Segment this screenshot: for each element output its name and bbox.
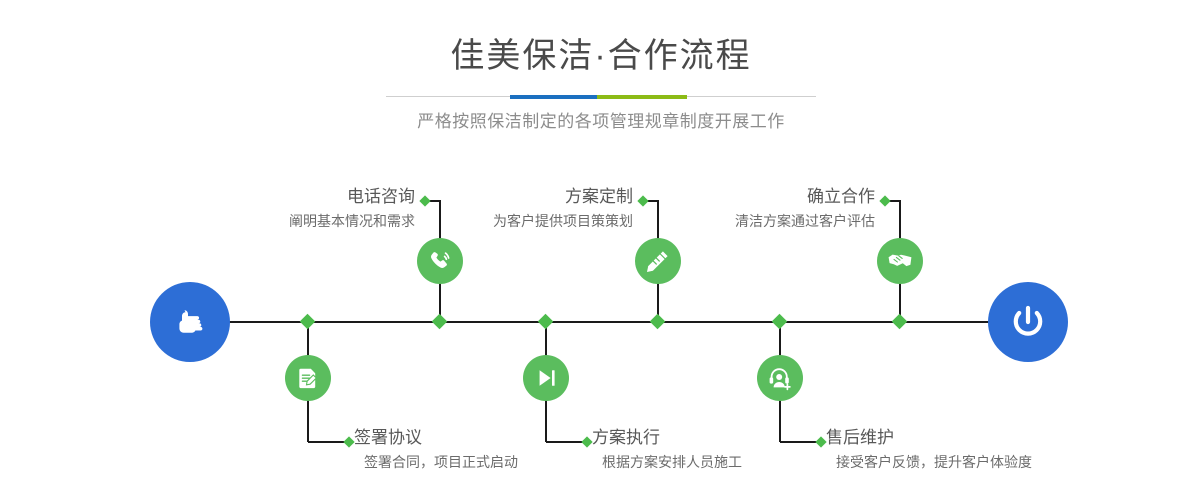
flowchart-page: 佳美保洁·合作流程 严格按照保洁制定的各项管理规章制度开展工作 <box>0 0 1202 502</box>
timeline-end-node[interactable] <box>988 282 1068 362</box>
axis-diamond-3 <box>650 314 666 330</box>
step-label-5: 确立合作 清洁方案通过客户评估 <box>620 186 875 232</box>
play-skip-icon <box>533 365 559 391</box>
step-icon-1[interactable] <box>417 238 463 284</box>
step-label-6: 售后维护 接受客户反馈，提升客户体验度 <box>826 427 1126 473</box>
step-desc-5: 清洁方案通过客户评估 <box>620 210 875 232</box>
label-diamond-5 <box>879 195 890 206</box>
label-diamond-2 <box>343 436 354 447</box>
axis-diamond-4 <box>538 314 554 330</box>
axis-diamond-1 <box>432 314 448 330</box>
step-title-5: 确立合作 <box>620 186 875 208</box>
step-desc-6: 接受客户反馈，提升客户体验度 <box>826 451 1126 473</box>
timeline-start-node[interactable] <box>150 282 230 362</box>
step-icon-2[interactable] <box>285 355 331 401</box>
step-icon-6[interactable] <box>757 355 803 401</box>
axis-diamond-5 <box>892 314 908 330</box>
step-icon-5[interactable] <box>877 238 923 284</box>
step-title-6: 售后维护 <box>826 427 1126 449</box>
axis-diamond-2 <box>300 314 316 330</box>
step-desc-3: 为客户提供项目策策划 <box>368 210 633 232</box>
handshake-icon <box>886 247 914 275</box>
phone-ring-icon <box>426 247 454 275</box>
headset-support-icon <box>766 364 794 392</box>
power-icon <box>1005 299 1051 345</box>
pointing-hand-icon <box>168 300 212 344</box>
process-timeline: 电话咨询 阐明基本情况和需求 签署协议 签署合同，项目正式启动 <box>0 0 1202 502</box>
step-icon-4[interactable] <box>523 355 569 401</box>
step-title-3: 方案定制 <box>368 186 633 208</box>
pencil-ruler-icon <box>644 247 672 275</box>
step-label-3: 方案定制 为客户提供项目策策划 <box>368 186 633 232</box>
axis-diamond-6 <box>772 314 788 330</box>
step-icon-3[interactable] <box>635 238 681 284</box>
document-edit-icon <box>294 364 322 392</box>
